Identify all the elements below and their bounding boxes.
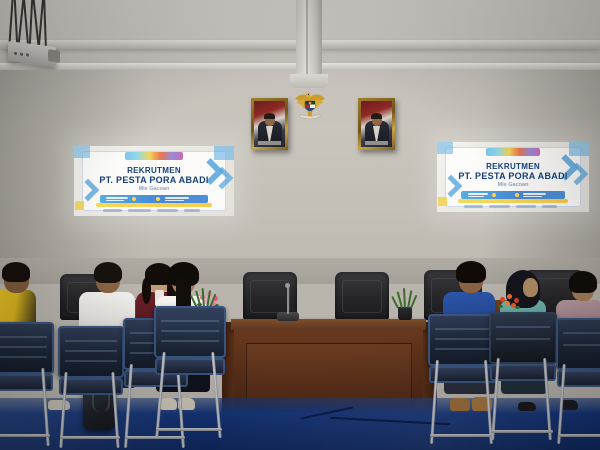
slide-right: REKRUTMEN PT. PESTA PORA ABADI Mie Gacoa… bbox=[437, 142, 589, 212]
slide-info-bar bbox=[461, 191, 564, 199]
slide-left: REKRUTMEN PT. PESTA PORA ABADI Mie Gacoa… bbox=[74, 146, 234, 216]
slide-heading: REKRUTMEN bbox=[74, 166, 234, 175]
folding-chair-1 bbox=[0, 322, 50, 442]
folding-chair-2 bbox=[58, 326, 120, 446]
desk-top bbox=[231, 319, 426, 330]
slide-heading: REKRUTMEN bbox=[437, 162, 589, 171]
folding-chair-7 bbox=[556, 318, 600, 438]
slide-info-bar bbox=[100, 195, 209, 203]
portrait-vice-president bbox=[358, 98, 395, 150]
slide-logo-bar bbox=[486, 148, 541, 156]
projector-lens bbox=[48, 49, 60, 63]
folding-chair-5 bbox=[428, 314, 494, 434]
column-seam bbox=[306, 0, 308, 78]
folding-chair-4 bbox=[154, 306, 222, 426]
slide-company: PT. PESTA PORA ABADI bbox=[74, 175, 234, 185]
flower-arrangement-right bbox=[497, 292, 523, 314]
meeting-hall-photo: REKRUTMEN PT. PESTA PORA ABADI Mie Gacoa… bbox=[0, 0, 600, 450]
slide-tagline: Mie Gacoan bbox=[437, 182, 589, 188]
folding-chair-6 bbox=[489, 312, 553, 432]
slide-yellow-strip bbox=[96, 203, 211, 207]
slide-logo-bar bbox=[125, 152, 183, 160]
ceiling-column bbox=[296, 0, 322, 82]
exec-chair-3 bbox=[335, 272, 389, 320]
portrait-president bbox=[251, 98, 288, 150]
garuda-pancasila-emblem bbox=[293, 82, 327, 126]
projection-screen-right: REKRUTMEN PT. PESTA PORA ABADI Mie Gacoa… bbox=[437, 142, 589, 212]
slide-tagline: Mie Gacoan bbox=[74, 186, 234, 192]
slide-yellow-strip bbox=[458, 199, 567, 203]
slide-company: PT. PESTA PORA ABADI bbox=[437, 171, 589, 181]
projection-screen-left: REKRUTMEN PT. PESTA PORA ABADI Mie Gacoa… bbox=[74, 146, 234, 216]
